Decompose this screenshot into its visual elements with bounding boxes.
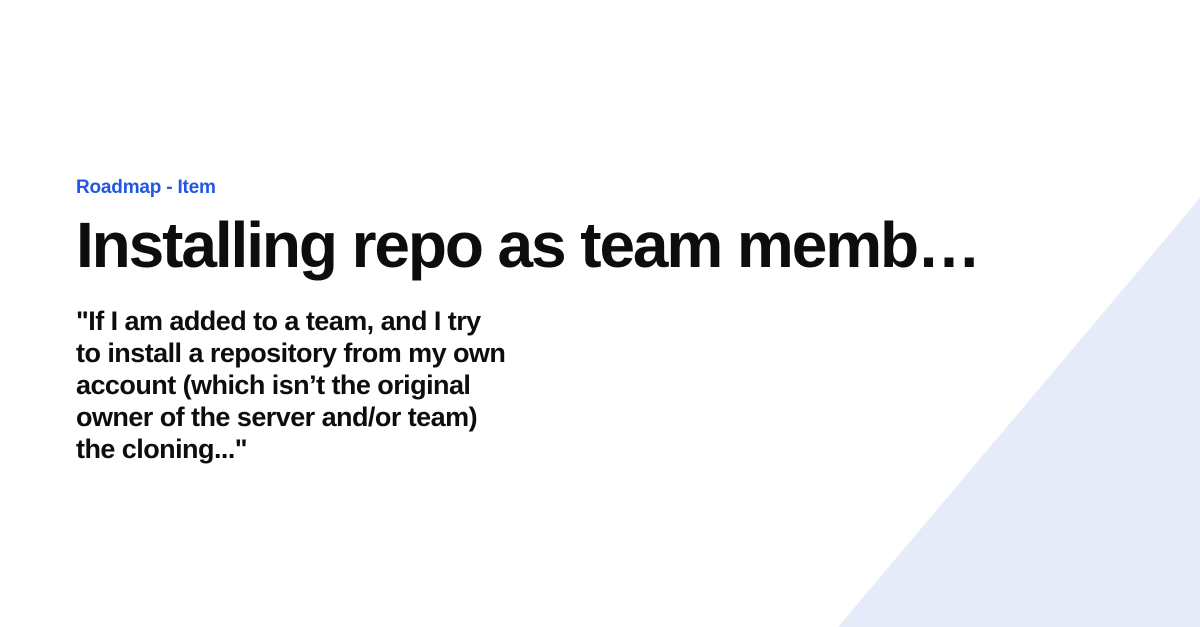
quote-excerpt: "If I am added to a team, and I try to i… bbox=[76, 305, 636, 465]
breadcrumb-eyebrow: Roadmap - Item bbox=[76, 178, 1086, 199]
social-share-card: Roadmap - Item Installing repo as team m… bbox=[0, 0, 1200, 627]
card-content: Roadmap - Item Installing repo as team m… bbox=[76, 178, 1086, 465]
page-title: Installing repo as team memb… bbox=[76, 213, 1086, 279]
